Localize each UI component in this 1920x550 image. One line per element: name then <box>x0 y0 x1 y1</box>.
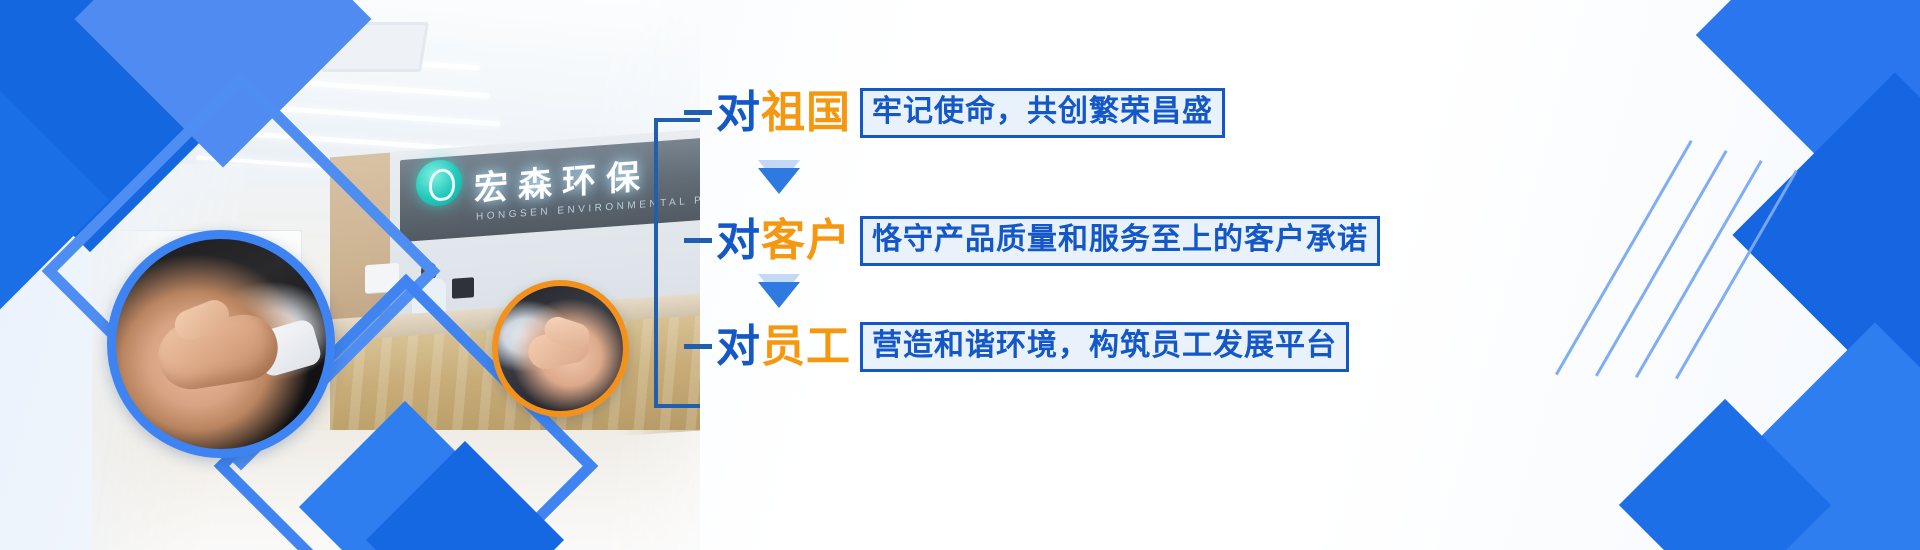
value-prefix-1: 对 <box>716 87 761 138</box>
company-values-banner: 宏森环保 HONGSEN ENVIRONMENTAL PROTECTION <box>0 0 1920 550</box>
handshake-circle-photo <box>107 230 335 458</box>
row-dash <box>684 110 712 115</box>
value-row-1: 对祖国 牢记使命，共创繁荣昌盛 <box>684 88 1225 138</box>
value-row-2: 对客户 恪守产品质量和服务至上的客户承诺 <box>684 216 1380 266</box>
value-target-3: 员工 <box>761 321 851 372</box>
applause-circle-photo <box>492 280 629 417</box>
triangle-down-icon <box>758 282 800 308</box>
value-heading-3: 对员工 <box>716 325 851 369</box>
value-prefix-2: 对 <box>716 215 761 266</box>
value-target-2: 客户 <box>761 215 851 266</box>
triangle-down-icon <box>758 168 800 194</box>
row-dash <box>684 238 712 243</box>
value-prefix-3: 对 <box>716 321 761 372</box>
value-tag-3: 营造和谐环境，构筑员工发展平台 <box>860 322 1349 372</box>
value-target-1: 祖国 <box>761 87 851 138</box>
desk-terminal <box>452 277 474 299</box>
value-heading-2: 对客户 <box>716 219 851 263</box>
row-dash <box>684 344 712 349</box>
value-heading-1: 对祖国 <box>716 91 851 135</box>
value-tag-2: 恪守产品质量和服务至上的客户承诺 <box>860 216 1380 266</box>
value-row-3: 对员工 营造和谐环境，构筑员工发展平台 <box>684 322 1349 372</box>
value-tag-1: 牢记使命，共创繁荣昌盛 <box>860 88 1225 138</box>
values-content: 对祖国 牢记使命，共创繁荣昌盛 对客户 恪守产品质量和服务至上的客户承诺 对员工… <box>648 0 1448 550</box>
